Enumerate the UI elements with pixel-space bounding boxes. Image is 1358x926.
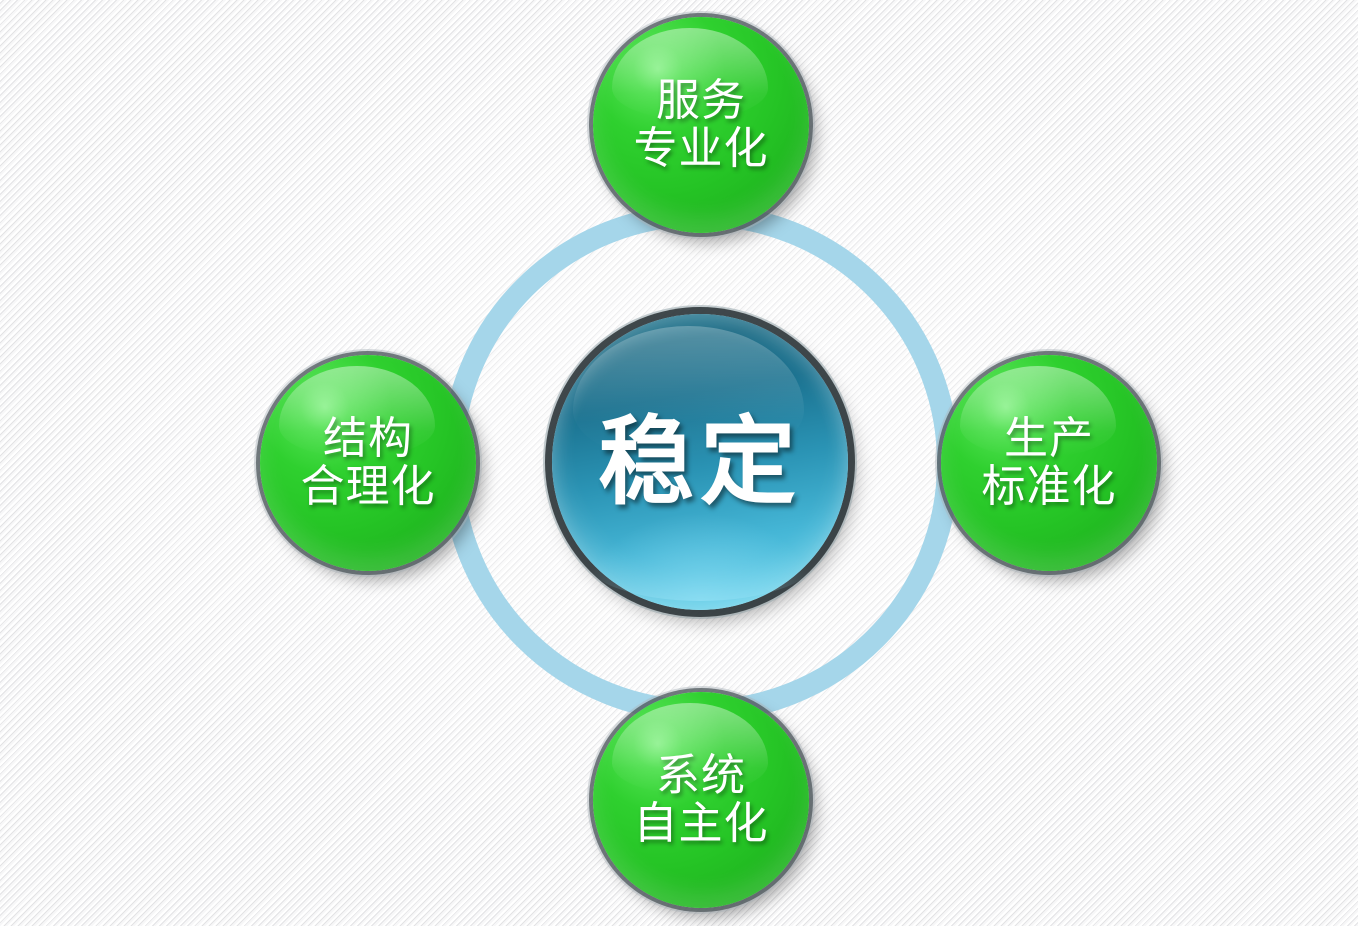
node-label-left-line1: 结构 xyxy=(323,413,413,464)
hub-node-label: 稳定 xyxy=(598,414,802,510)
node-label-left-line2: 合理化 xyxy=(301,463,436,511)
node-label-right-line2: 标准化 xyxy=(982,463,1117,511)
diagram-canvas: 稳定 服务 专业化 生产 标准化 系统 自主化 结构 合理化 xyxy=(0,0,1358,926)
node-label-top-line1: 服务 xyxy=(656,75,746,126)
node-label-right: 生产 标准化 xyxy=(982,415,1117,510)
node-system-autonomy[interactable]: 系统 自主化 xyxy=(593,692,809,908)
node-label-left: 结构 合理化 xyxy=(301,415,436,510)
hub-node-stability[interactable]: 稳定 xyxy=(552,314,848,610)
node-label-bottom-line1: 系统 xyxy=(656,750,746,801)
node-label-bottom: 系统 自主化 xyxy=(634,752,769,847)
node-label-top: 服务 专业化 xyxy=(634,77,769,172)
node-production-standardization[interactable]: 生产 标准化 xyxy=(941,355,1157,571)
node-label-right-line1: 生产 xyxy=(1004,413,1094,464)
node-label-top-line2: 专业化 xyxy=(634,125,769,173)
node-service-specialization[interactable]: 服务 专业化 xyxy=(593,17,809,233)
node-structure-rationalization[interactable]: 结构 合理化 xyxy=(260,355,476,571)
node-label-bottom-line2: 自主化 xyxy=(634,800,769,848)
